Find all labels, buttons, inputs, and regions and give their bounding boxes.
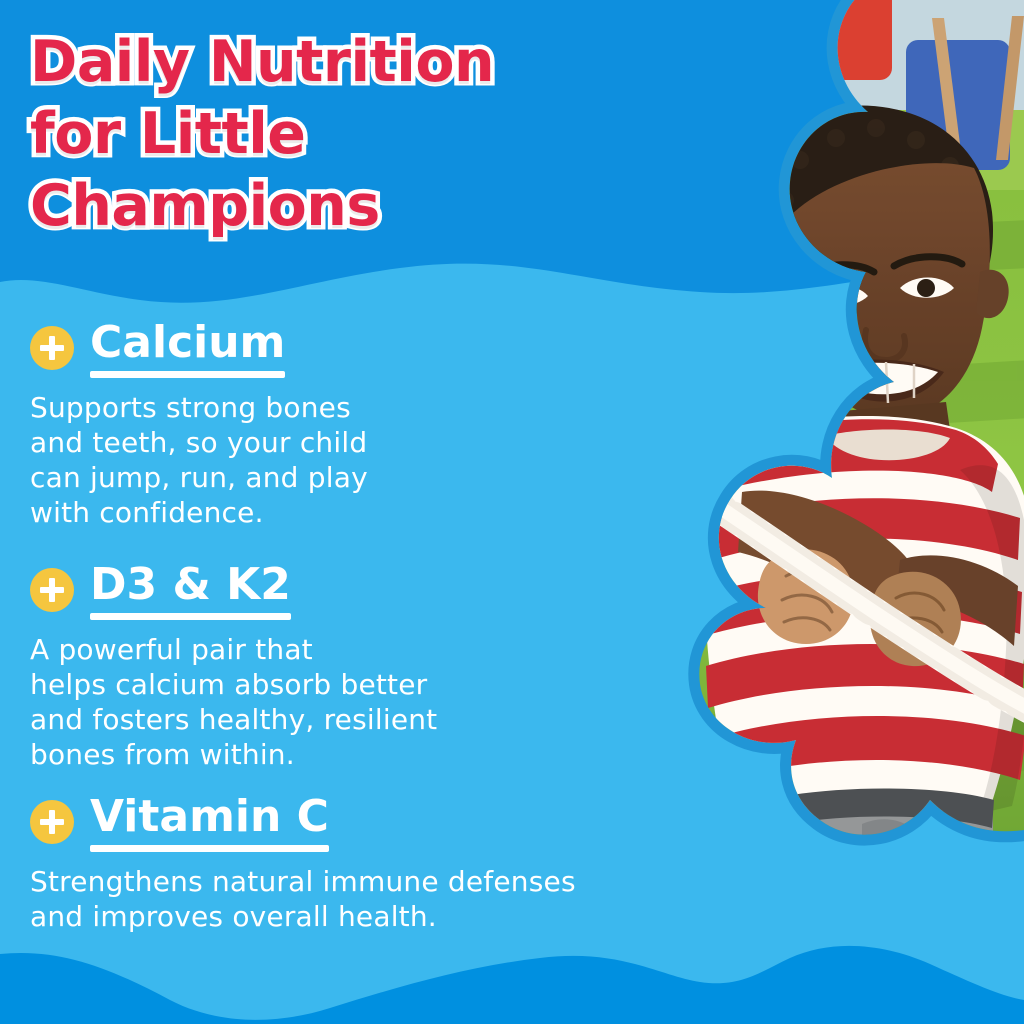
- benefit-header: Vitamin C: [30, 792, 576, 852]
- benefit-title: Vitamin C: [90, 792, 329, 852]
- headline-line-2: for Little: [30, 98, 530, 170]
- headline-line-1: Daily Nutrition: [30, 26, 530, 98]
- plus-icon: [30, 326, 74, 370]
- benefit-title: D3 & K2: [90, 560, 291, 620]
- benefit-header: Calcium: [30, 318, 368, 378]
- benefit-item-vitamin-c: Vitamin C Strengthens natural immune def…: [30, 792, 576, 934]
- nutrition-infographic: Daily Nutrition for Little Champions Cal…: [0, 0, 1024, 1024]
- benefit-description: Strengthens natural immune defenses and …: [30, 864, 576, 934]
- plus-icon: [30, 568, 74, 612]
- benefit-item-d3-k2: D3 & K2 A powerful pair that helps calci…: [30, 560, 437, 772]
- benefit-description: Supports strong bones and teeth, so your…: [30, 390, 368, 530]
- benefit-title: Calcium: [90, 318, 285, 378]
- plus-icon: [30, 800, 74, 844]
- page-title: Daily Nutrition for Little Champions: [30, 26, 530, 242]
- benefit-item-calcium: Calcium Supports strong bones and teeth,…: [30, 318, 368, 530]
- benefit-header: D3 & K2: [30, 560, 437, 620]
- headline-line-3: Champions: [30, 170, 530, 242]
- benefit-description: A powerful pair that helps calcium absor…: [30, 632, 437, 772]
